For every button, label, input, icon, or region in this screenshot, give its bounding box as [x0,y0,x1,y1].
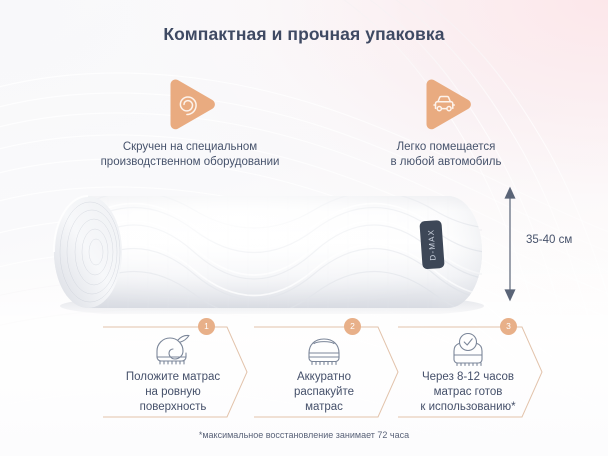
step-number-badge: 3 [500,318,517,335]
step-card-1: 1 Положите матрас на ровную поверхность [95,326,251,418]
step-text: Аккуратно распакуйте матрас [246,370,402,415]
step-card-3: 3 Через 8-12 часов матрас готов к исполь… [390,326,546,418]
step-text: Через 8-12 часов матрас готов к использо… [390,370,546,415]
car-icon [418,78,474,130]
feature-twisted-on-equipment: Скручен на специальном производственном … [38,78,342,170]
step-text: Положите матрас на ровную поверхность [95,370,251,415]
page-title: Компактная и прочная упаковка [0,24,608,45]
vertical-double-arrow-icon [505,188,514,300]
steps-row: 1 Положите матрас на ровную поверхность [0,326,608,422]
feature-caption: Скручен на специальном производственном … [38,140,342,170]
feature-caption: Легко помещается в любой автомобиль [330,140,562,170]
car-icon-badge [418,78,474,130]
rolled-mattress-icon [151,331,195,372]
step-number-badge: 2 [344,318,361,335]
brand-label-tag: D-MAX [419,220,444,269]
clock-check-mattress-icon [446,331,490,372]
step-number-badge: 1 [198,318,215,335]
step-card-2: 2 Аккуратно распакуйте матрас [246,326,402,418]
rolled-mattress-product: D-MAX [44,186,514,314]
dimension-label: 35-40 см [526,234,572,246]
dimension-indicator: 35-40 см [500,186,604,302]
spiral-icon [162,78,218,130]
footnote: *максимальное восстановление занимает 72… [0,430,608,440]
unpack-mattress-icon [302,331,346,372]
spiral-icon-badge [162,78,218,130]
feature-fits-any-car: Легко помещается в любой автомобиль [330,78,562,170]
roll-left-cap [54,196,122,308]
packaging-infographic: Компактная и прочная упаковка Скручен на… [0,0,608,456]
